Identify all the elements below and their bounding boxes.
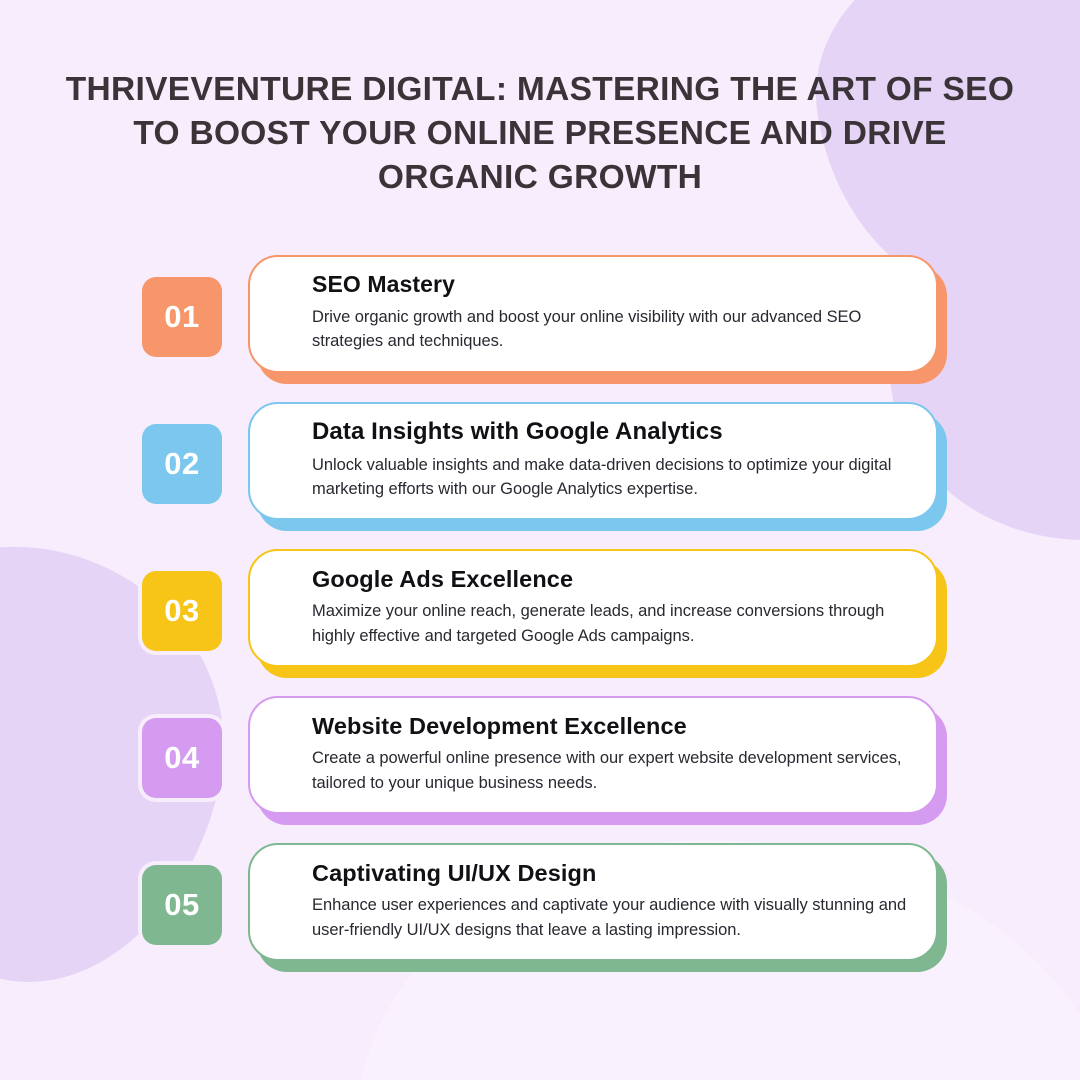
item-number-label: 04 <box>164 740 199 776</box>
card-description: Enhance user experiences and captivate y… <box>312 893 910 942</box>
list-item: 04 Website Development Excellence Create… <box>0 696 1080 822</box>
list-item: 02 Data Insights with Google Analytics U… <box>0 402 1080 528</box>
card-shell: SEO Mastery Drive organic growth and boo… <box>248 255 938 375</box>
card-title: Website Development Excellence <box>312 712 910 740</box>
item-number-badge: 04 <box>142 718 222 798</box>
item-number-label: 02 <box>164 446 199 482</box>
item-number-label: 05 <box>164 887 199 923</box>
card-shell: Captivating UI/UX Design Enhance user ex… <box>248 843 938 963</box>
list-item: 05 Captivating UI/UX Design Enhance user… <box>0 843 1080 969</box>
service-card[interactable]: SEO Mastery Drive organic growth and boo… <box>248 255 938 373</box>
card-shell: Website Development Excellence Create a … <box>248 696 938 816</box>
card-description: Drive organic growth and boost your onli… <box>312 305 910 354</box>
card-title: Captivating UI/UX Design <box>312 859 910 887</box>
service-card[interactable]: Google Ads Excellence Maximize your onli… <box>248 549 938 667</box>
card-description: Unlock valuable insights and make data-d… <box>312 453 910 502</box>
item-number-label: 03 <box>164 593 199 629</box>
item-number-badge: 01 <box>142 277 222 357</box>
item-number-badge: 02 <box>142 424 222 504</box>
item-number-badge: 03 <box>142 571 222 651</box>
card-title: Google Ads Excellence <box>312 565 910 593</box>
list-item: 03 Google Ads Excellence Maximize your o… <box>0 549 1080 675</box>
card-shell: Data Insights with Google Analytics Unlo… <box>248 402 938 522</box>
item-number-label: 01 <box>164 299 199 335</box>
card-description: Maximize your online reach, generate lea… <box>312 599 910 648</box>
service-card[interactable]: Data Insights with Google Analytics Unlo… <box>248 402 938 520</box>
service-list: 01 SEO Mastery Drive organic growth and … <box>0 255 1080 990</box>
infographic-canvas: THRIVEVENTURE DIGITAL: MASTERING THE ART… <box>0 0 1080 1080</box>
card-title: Data Insights with Google Analytics <box>312 418 910 447</box>
item-number-badge: 05 <box>142 865 222 945</box>
card-description: Create a powerful online presence with o… <box>312 746 910 795</box>
service-card[interactable]: Captivating UI/UX Design Enhance user ex… <box>248 843 938 961</box>
card-shell: Google Ads Excellence Maximize your onli… <box>248 549 938 669</box>
card-title: SEO Mastery <box>312 271 910 299</box>
list-item: 01 SEO Mastery Drive organic growth and … <box>0 255 1080 381</box>
service-card[interactable]: Website Development Excellence Create a … <box>248 696 938 814</box>
page-title: THRIVEVENTURE DIGITAL: MASTERING THE ART… <box>50 68 1030 201</box>
